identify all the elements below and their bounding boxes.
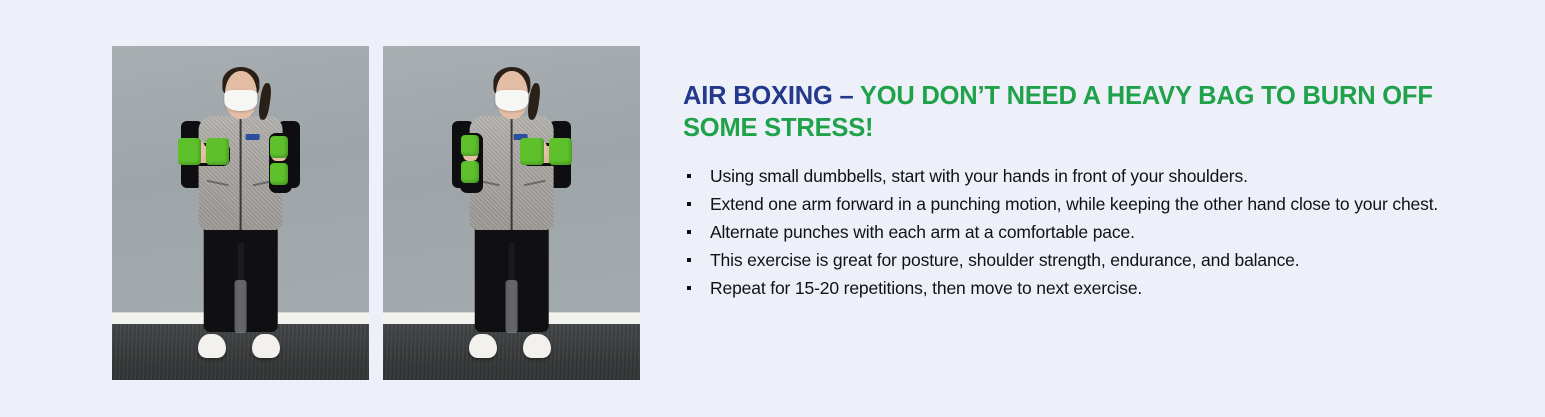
photo-gallery	[112, 46, 640, 380]
ponytail	[257, 82, 272, 120]
vest-pocket-right	[523, 180, 545, 187]
air-boxing-photo-left	[112, 46, 369, 380]
vest-zipper	[510, 116, 512, 230]
dumbbell-extended	[178, 138, 201, 165]
title-blue-part: AIR BOXING –	[683, 82, 860, 110]
face-mask	[495, 90, 528, 111]
list-item-text: Using small dumbbells, start with your h…	[710, 166, 1248, 186]
air-boxing-photo-right	[383, 46, 640, 380]
vest-pocket-left	[207, 180, 229, 187]
exercise-card: AIR BOXING – YOU DON’T NEED A HEAVY BAG …	[0, 0, 1545, 417]
shoe-left	[198, 334, 226, 358]
list-item-text: Repeat for 15-20 repetitions, then move …	[710, 278, 1142, 298]
shoe-left	[469, 334, 497, 358]
list-item: Using small dumbbells, start with your h…	[683, 162, 1453, 190]
list-item: This exercise is great for posture, shou…	[683, 246, 1453, 274]
person-figure	[383, 46, 640, 380]
dumbbell-extended-cap	[206, 138, 229, 165]
person-figure	[112, 46, 369, 380]
dumbbell-bent	[461, 135, 479, 157]
shoe-right	[523, 334, 551, 358]
bullet-dot-icon	[687, 258, 691, 262]
bullet-dot-icon	[687, 286, 691, 290]
text-panel: AIR BOXING – YOU DON’T NEED A HEAVY BAG …	[683, 80, 1453, 302]
face-mask	[224, 90, 257, 111]
list-item: Extend one arm forward in a punching mot…	[683, 190, 1453, 218]
vest-logo	[246, 134, 260, 140]
leg-gap	[505, 280, 518, 333]
leg-gap	[234, 280, 247, 333]
bullet-dot-icon	[687, 174, 691, 178]
vest-zipper	[239, 116, 241, 230]
exercise-title: AIR BOXING – YOU DON’T NEED A HEAVY BAG …	[683, 80, 1453, 144]
shoe-right	[252, 334, 280, 358]
dumbbell-bent	[270, 136, 288, 158]
dumbbell-extended-cap	[549, 138, 572, 165]
list-item: Repeat for 15-20 repetitions, then move …	[683, 274, 1453, 302]
list-item: Alternate punches with each arm at a com…	[683, 218, 1453, 246]
list-item-text: Extend one arm forward in a punching mot…	[710, 194, 1438, 214]
dumbbell-bent-cap	[270, 163, 288, 185]
bullet-dot-icon	[687, 230, 691, 234]
bullet-dot-icon	[687, 202, 691, 206]
list-item-text: Alternate punches with each arm at a com…	[710, 222, 1135, 242]
instruction-list: Using small dumbbells, start with your h…	[683, 162, 1453, 302]
dumbbell-extended	[520, 138, 543, 165]
dumbbell-bent-cap	[461, 161, 479, 183]
list-item-text: This exercise is great for posture, shou…	[710, 250, 1299, 270]
